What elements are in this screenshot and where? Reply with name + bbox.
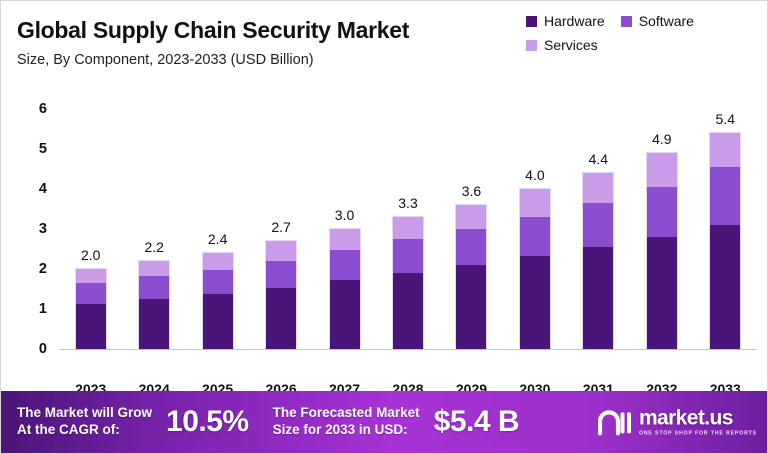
stacked-bar[interactable]	[76, 269, 106, 349]
bar-segment-hardware[interactable]	[203, 294, 233, 349]
cagr-block: The Market will Grow At the CAGR of: 10.…	[17, 405, 249, 439]
bar-segment-services[interactable]	[647, 153, 677, 187]
bar-segment-services[interactable]	[266, 241, 296, 261]
plot-area: 0123456 2.02.22.42.73.03.33.64.04.44.95.…	[1, 91, 768, 381]
y-axis-tick-label: 4	[39, 181, 47, 197]
bar-group[interactable]	[323, 91, 367, 381]
bar-segment-services[interactable]	[76, 269, 106, 283]
bar-value-label: 2.0	[69, 247, 113, 263]
legend-label-software: Software	[639, 13, 694, 29]
forecast-value: $5.4 B	[434, 405, 519, 439]
bar-group[interactable]	[449, 91, 493, 381]
legend-row-bottom: Services	[526, 37, 766, 53]
legend-row-top: Hardware Software	[526, 13, 766, 29]
bar-value-label: 3.6	[449, 183, 493, 199]
bar-value-label: 3.3	[386, 195, 430, 211]
forecast-block: The Forecasted Market Size for 2033 in U…	[273, 405, 519, 439]
bar-segment-software[interactable]	[456, 229, 486, 265]
bar-segment-software[interactable]	[330, 250, 360, 280]
forecast-caption-line1: The Forecasted Market	[273, 405, 420, 422]
market-size-infographic: Global Supply Chain Security Market Size…	[0, 0, 768, 454]
bar-group[interactable]	[513, 91, 557, 381]
bar-segment-hardware[interactable]	[330, 280, 360, 349]
bar-value-label: 2.7	[259, 219, 303, 235]
bar-value-label: 2.4	[196, 231, 240, 247]
stacked-bar[interactable]	[203, 253, 233, 349]
legend-item-software[interactable]: Software	[621, 13, 694, 29]
stacked-bar[interactable]	[330, 229, 360, 349]
bar-value-label: 4.4	[576, 151, 620, 167]
bar-value-label: 2.2	[132, 239, 176, 255]
market-us-logo-icon	[598, 409, 632, 435]
chart-subtitle: Size, By Component, 2023-2033 (USD Billi…	[17, 52, 314, 68]
bar-segment-hardware[interactable]	[583, 247, 613, 349]
brand-tagline: ONE STOP SHOP FOR THE REPORTS	[639, 431, 757, 436]
stacked-bar[interactable]	[393, 217, 423, 349]
bar-series-container: 2.02.22.42.73.03.33.64.04.44.95.4	[59, 91, 757, 381]
stacked-bar[interactable]	[520, 189, 550, 349]
page-title: Global Supply Chain Security Market	[17, 17, 409, 44]
bar-segment-hardware[interactable]	[647, 237, 677, 349]
forecast-caption-line2: Size for 2033 in USD:	[273, 422, 420, 439]
legend-label-hardware: Hardware	[544, 13, 605, 29]
y-axis: 0123456	[1, 91, 61, 381]
y-axis-tick-label: 6	[39, 101, 47, 117]
bar-segment-services[interactable]	[710, 133, 740, 167]
brand-text: market.us ONE STOP SHOP FOR THE REPORTS	[639, 407, 757, 436]
bar-value-label: 4.9	[640, 131, 684, 147]
y-axis-tick-label: 1	[39, 301, 47, 317]
bar-group[interactable]	[576, 91, 620, 381]
bar-segment-hardware[interactable]	[76, 304, 106, 349]
bar-segment-hardware[interactable]	[266, 288, 296, 349]
bar-segment-hardware[interactable]	[393, 273, 423, 349]
brand-logo[interactable]: market.us ONE STOP SHOP FOR THE REPORTS	[598, 407, 757, 436]
bar-segment-services[interactable]	[456, 205, 486, 229]
brand-name: market.us	[639, 407, 757, 428]
bar-segment-software[interactable]	[520, 217, 550, 256]
bar-segment-services[interactable]	[393, 217, 423, 239]
legend-item-services[interactable]: Services	[526, 37, 598, 53]
stacked-bar[interactable]	[139, 261, 169, 349]
bar-group[interactable]	[386, 91, 430, 381]
bar-group[interactable]	[259, 91, 303, 381]
cagr-caption-line2: At the CAGR of:	[17, 422, 152, 439]
bar-segment-software[interactable]	[393, 239, 423, 272]
bar-segment-hardware[interactable]	[520, 256, 550, 349]
legend-swatch-services-icon	[526, 40, 537, 51]
stacked-bar[interactable]	[647, 153, 677, 349]
y-axis-tick-label: 5	[39, 141, 47, 157]
bar-group[interactable]	[69, 91, 113, 381]
stacked-bar[interactable]	[456, 205, 486, 349]
bar-segment-services[interactable]	[139, 261, 169, 276]
legend-swatch-hardware-icon	[526, 16, 537, 27]
stacked-bar[interactable]	[583, 173, 613, 349]
bar-group[interactable]	[703, 91, 747, 381]
bar-segment-services[interactable]	[583, 173, 613, 203]
bar-segment-software[interactable]	[203, 270, 233, 294]
y-axis-tick-label: 2	[39, 261, 47, 277]
legend-label-services: Services	[544, 37, 598, 53]
bar-segment-software[interactable]	[583, 203, 613, 247]
bar-segment-hardware[interactable]	[456, 265, 486, 349]
forecast-caption: The Forecasted Market Size for 2033 in U…	[273, 405, 420, 439]
stacked-bar[interactable]	[710, 133, 740, 349]
bar-segment-hardware[interactable]	[139, 299, 169, 349]
bar-segment-services[interactable]	[520, 189, 550, 217]
bar-segment-software[interactable]	[76, 283, 106, 304]
bar-value-label: 4.0	[513, 167, 557, 183]
bar-segment-software[interactable]	[139, 276, 169, 299]
legend-item-hardware[interactable]: Hardware	[526, 13, 605, 29]
bar-segment-services[interactable]	[330, 229, 360, 250]
cagr-caption-line1: The Market will Grow	[17, 405, 152, 422]
chart-legend: Hardware Software Services	[526, 13, 766, 61]
footer-banner: The Market will Grow At the CAGR of: 10.…	[1, 391, 768, 453]
bar-value-label: 3.0	[323, 207, 367, 223]
legend-swatch-software-icon	[621, 16, 632, 27]
stacked-bar[interactable]	[266, 241, 296, 349]
bar-segment-services[interactable]	[203, 253, 233, 270]
bar-segment-software[interactable]	[647, 187, 677, 237]
bar-segment-software[interactable]	[710, 167, 740, 224]
bar-group[interactable]	[132, 91, 176, 381]
cagr-value: 10.5%	[166, 405, 249, 439]
y-axis-tick-label: 0	[39, 341, 47, 357]
cagr-caption: The Market will Grow At the CAGR of:	[17, 405, 152, 439]
y-axis-tick-label: 3	[39, 221, 47, 237]
bar-value-label: 5.4	[703, 111, 747, 127]
bar-segment-software[interactable]	[266, 261, 296, 288]
bar-segment-hardware[interactable]	[710, 225, 740, 349]
